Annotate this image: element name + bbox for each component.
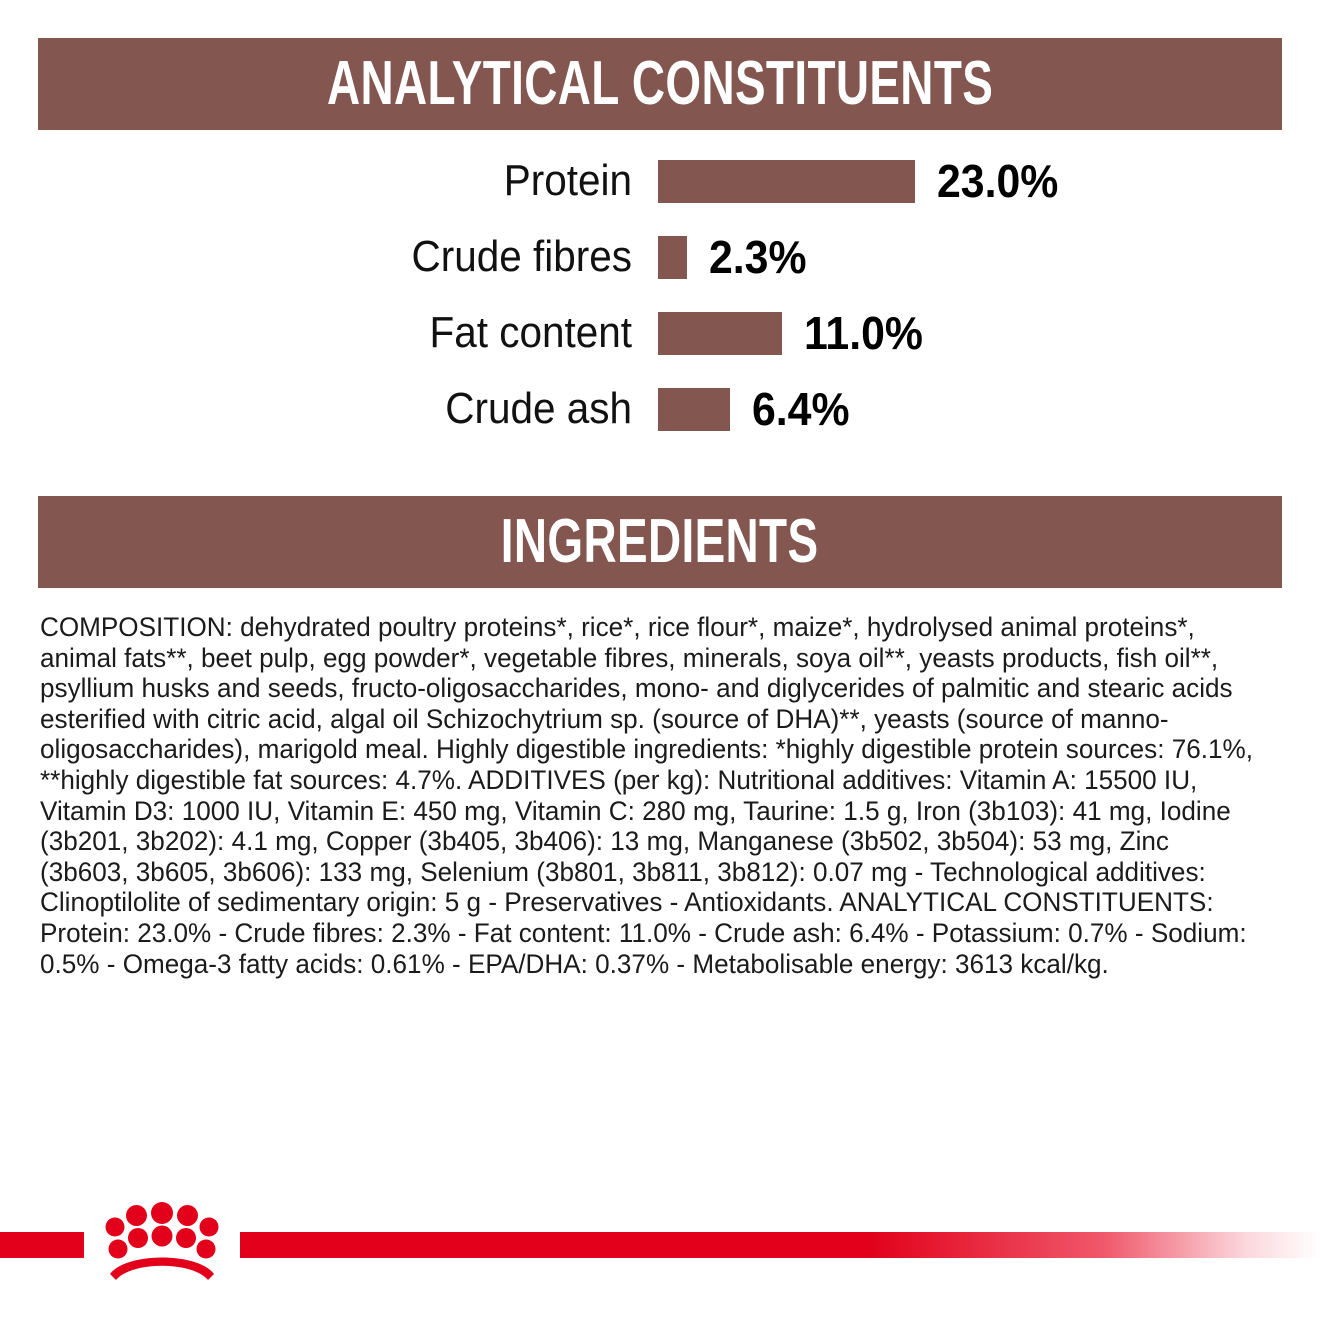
- analytical-constituents-header: ANALYTICAL CONSTITUENTS: [38, 38, 1282, 130]
- chart-bar: [658, 388, 730, 431]
- analytical-constituents-title: ANALYTICAL CONSTITUENTS: [327, 53, 993, 115]
- chart-row: Fat content 11.0%: [0, 302, 1320, 364]
- chart-bar-wrap: 6.4%: [658, 378, 857, 440]
- chart-row: Protein 23.0%: [0, 150, 1320, 212]
- chart-row-label: Protein: [51, 159, 632, 203]
- chart-row-label: Crude fibres: [51, 235, 632, 279]
- royal-canin-crown-logo: [92, 1202, 232, 1284]
- chart-row-label: Fat content: [51, 311, 632, 355]
- ingredients-header: INGREDIENTS: [38, 496, 1282, 588]
- analytical-constituents-chart: Protein 23.0% Crude fibres 2.3% Fat cont…: [0, 150, 1320, 460]
- chart-row-value: 11.0%: [804, 310, 923, 356]
- chart-row-value: 2.3%: [709, 234, 807, 280]
- chart-bar-wrap: 11.0%: [658, 302, 932, 364]
- ingredients-title: INGREDIENTS: [501, 511, 819, 573]
- footer-accent-bar-right: [240, 1232, 1320, 1258]
- chart-bar: [658, 160, 915, 203]
- footer: [0, 1200, 1320, 1320]
- chart-bar: [658, 236, 687, 279]
- chart-row: Crude fibres 2.3%: [0, 226, 1320, 288]
- footer-accent-bar-left: [0, 1232, 84, 1258]
- composition-text: COMPOSITION: dehydrated poultry proteins…: [40, 612, 1261, 979]
- chart-bar-wrap: 2.3%: [658, 226, 814, 288]
- chart-row-value: 23.0%: [937, 158, 1058, 204]
- chart-row: Crude ash 6.4%: [0, 378, 1320, 440]
- chart-row-label: Crude ash: [51, 387, 632, 431]
- chart-bar: [658, 312, 782, 355]
- chart-bar-wrap: 23.0%: [658, 150, 1067, 212]
- chart-row-value: 6.4%: [752, 386, 850, 432]
